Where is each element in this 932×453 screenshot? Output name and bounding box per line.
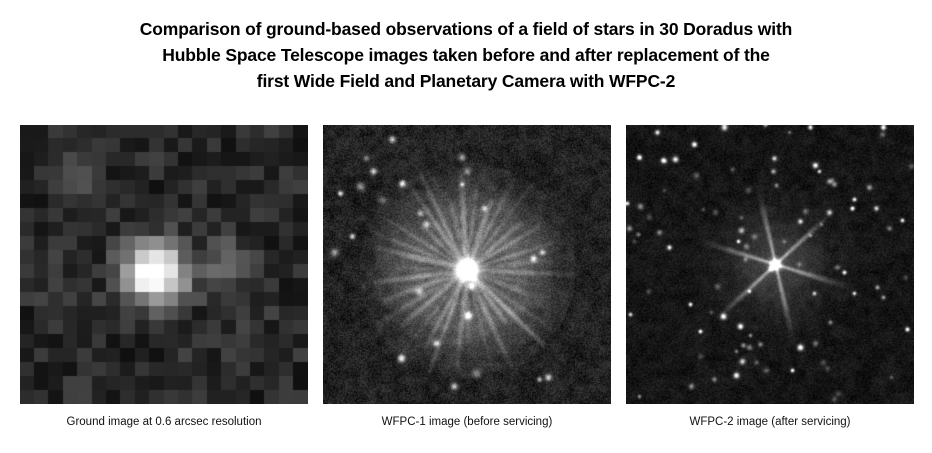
wfpc2-image-canvas: [626, 125, 914, 404]
title-line-1: Comparison of ground-based observations …: [0, 16, 932, 42]
title-line-2: Hubble Space Telescope images taken befo…: [0, 42, 932, 68]
caption-ground-image: Ground image at 0.6 arcsec resolution: [20, 414, 308, 430]
panel-ground-image: [20, 125, 308, 404]
wfpc1-image-canvas: [323, 125, 611, 404]
panel-wfpc1-image: [323, 125, 611, 404]
caption-row: Ground image at 0.6 arcsec resolution WF…: [0, 414, 932, 434]
ground-image-canvas: [20, 125, 308, 404]
caption-wfpc1-image: WFPC-1 image (before servicing): [323, 414, 611, 430]
image-panel-row: [0, 125, 932, 404]
title-line-3: first Wide Field and Planetary Camera wi…: [0, 68, 932, 94]
figure-root: Comparison of ground-based observations …: [0, 0, 932, 453]
caption-wfpc2-image: WFPC-2 image (after servicing): [626, 414, 914, 430]
panel-wfpc2-image: [626, 125, 914, 404]
figure-title: Comparison of ground-based observations …: [0, 16, 932, 94]
